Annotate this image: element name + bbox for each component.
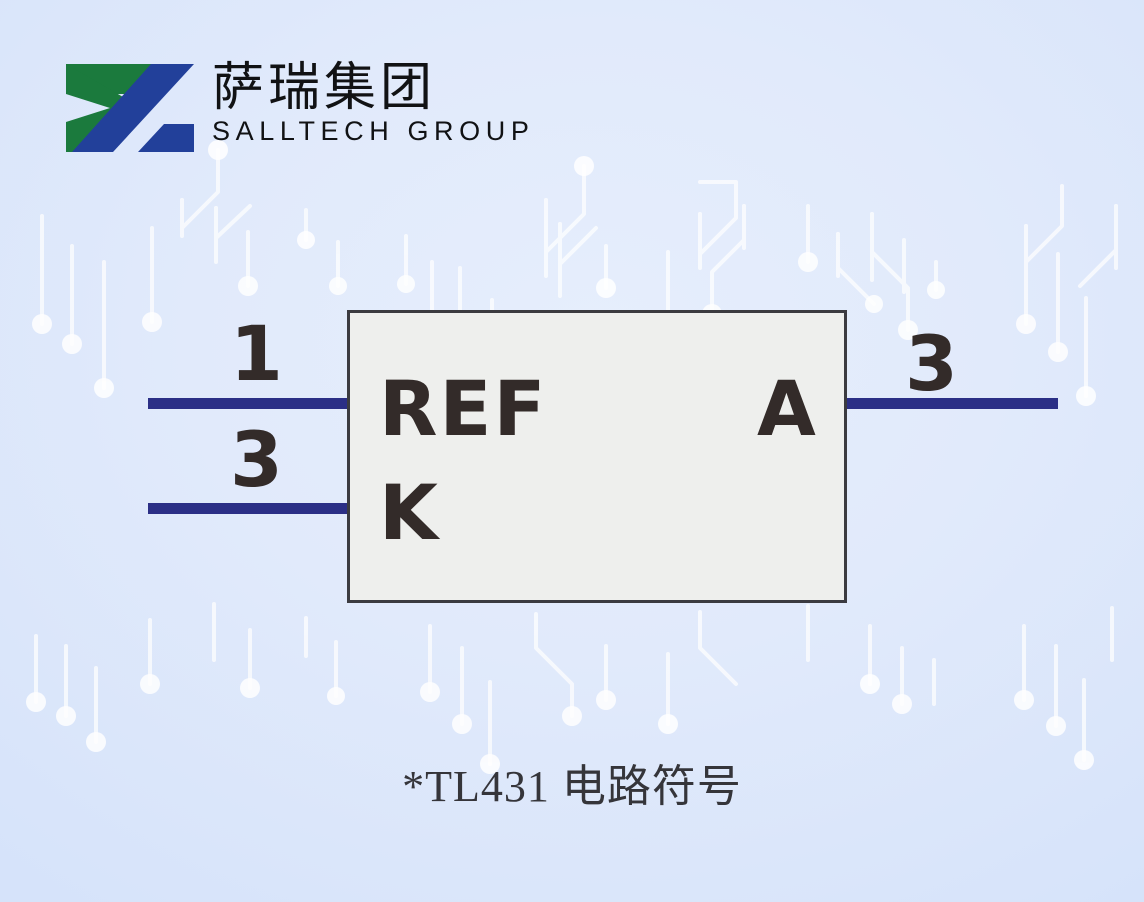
port-label-a: A xyxy=(757,371,816,447)
pin-number-3-left: 3 xyxy=(230,422,283,498)
figure-caption: *TL431 电路符号 xyxy=(0,760,1144,814)
port-label-ref: REF xyxy=(379,371,547,447)
slide-canvas: 萨瑞集团 SALLTECH GROUP 1 3 3 REF K A *TL431… xyxy=(0,0,1144,902)
component-body-box xyxy=(347,310,847,603)
pin-number-3-right: 3 xyxy=(905,326,958,402)
port-label-k: K xyxy=(379,475,438,551)
lead-line-ref xyxy=(148,398,353,409)
lead-line-k xyxy=(148,503,353,514)
pin-number-1: 1 xyxy=(230,316,283,392)
